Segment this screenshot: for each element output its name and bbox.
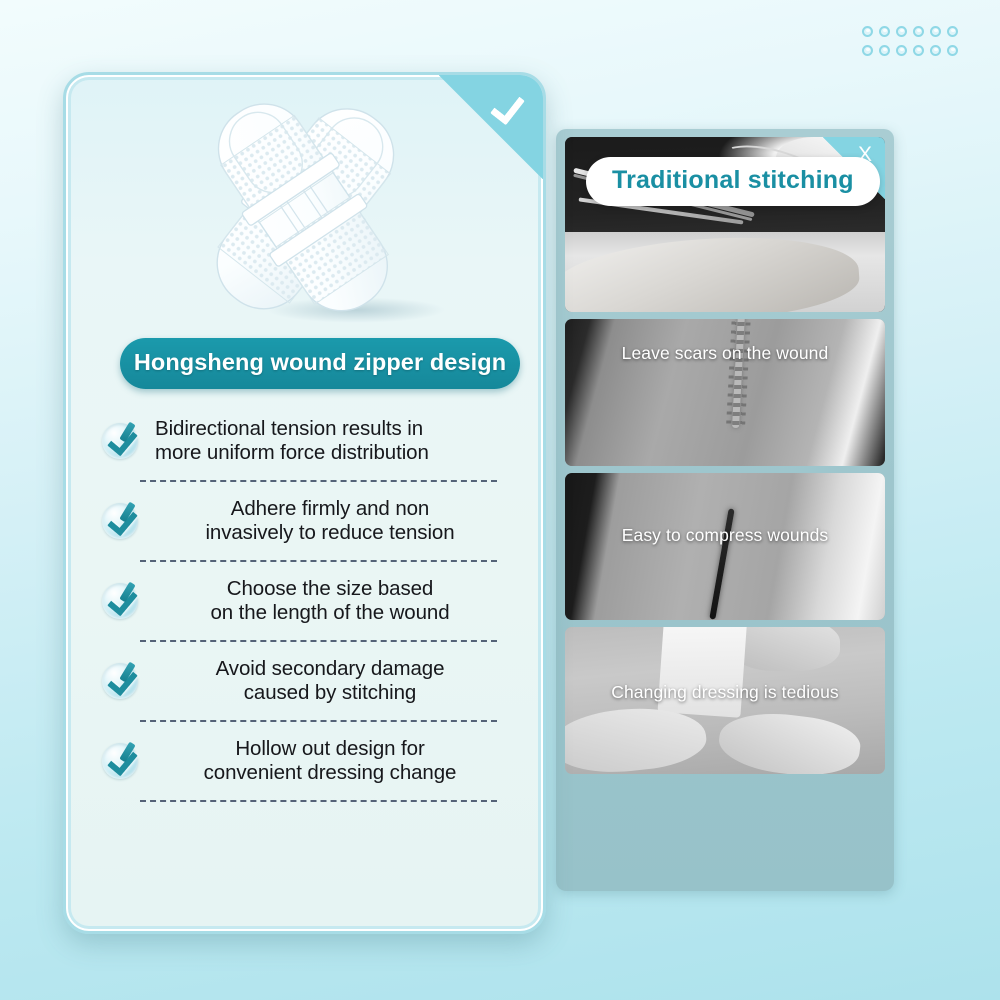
feature-text-line: more uniform force distribution xyxy=(155,441,429,464)
feature-item: Adhere firmly and non invasively to redu… xyxy=(102,491,515,551)
product-feature-card: Hongsheng wound zipper design Bidirectio… xyxy=(63,72,546,934)
decorative-dot-grid xyxy=(862,26,964,64)
check-circle-icon xyxy=(102,743,138,779)
circle-outline-icon xyxy=(930,26,941,37)
stitched-scar-shape xyxy=(732,319,745,428)
feature-text: Bidirectional tension results in more un… xyxy=(151,417,515,465)
circle-outline-icon xyxy=(947,26,958,37)
photo-background xyxy=(565,319,885,466)
feature-item: Hollow out design for convenient dressin… xyxy=(102,731,515,791)
check-corner-badge xyxy=(439,75,543,179)
sutured-scar-photo: Leave scars on the wound xyxy=(565,319,885,466)
feature-item: Avoid secondary damage caused by stitchi… xyxy=(102,651,515,711)
gauze-shape xyxy=(658,627,748,718)
circle-outline-icon xyxy=(862,45,873,56)
hand-shape xyxy=(731,627,840,671)
divider xyxy=(140,480,497,482)
check-circle-icon xyxy=(102,503,138,539)
traditional-stitching-panel: X Traditional stitching Leave scars on t… xyxy=(556,129,894,891)
feature-text-line: on the length of the wound xyxy=(210,601,449,624)
circle-outline-icon xyxy=(947,45,958,56)
feature-text-line: Avoid secondary damage xyxy=(216,657,445,680)
circle-outline-icon xyxy=(896,45,907,56)
feature-text-line: Adhere firmly and non xyxy=(231,497,429,520)
circle-outline-icon xyxy=(913,26,924,37)
feature-text: Choose the size based on the length of t… xyxy=(151,577,515,625)
feature-text-line: Bidirectional tension results in xyxy=(155,417,423,440)
changing-dressing-photo: Changing dressing is tedious xyxy=(565,627,885,774)
feature-text: Adhere firmly and non invasively to redu… xyxy=(151,497,515,545)
check-icon xyxy=(490,89,525,126)
divider xyxy=(140,800,497,802)
feature-text: Avoid secondary damage caused by stitchi… xyxy=(151,657,515,705)
feature-text-line: convenient dressing change xyxy=(204,761,457,784)
check-circle-icon xyxy=(102,663,138,699)
traditional-stitching-heading: Traditional stitching xyxy=(586,157,880,206)
circle-outline-icon xyxy=(896,26,907,37)
photo-caption: Changing dressing is tedious xyxy=(565,682,885,703)
check-circle-icon xyxy=(102,583,138,619)
page-title: Hongsheng wound zipper design xyxy=(120,338,520,389)
feature-list: Bidirectional tension results in more un… xyxy=(66,411,543,811)
linear-wound-photo: Easy to compress wounds xyxy=(565,473,885,620)
divider xyxy=(140,720,497,722)
feature-text-line: Choose the size based xyxy=(227,577,433,600)
feature-text-line: caused by stitching xyxy=(244,681,416,704)
divider xyxy=(140,640,497,642)
check-circle-icon xyxy=(102,423,138,459)
circle-outline-icon xyxy=(879,45,890,56)
feature-text: Hollow out design for convenient dressin… xyxy=(151,737,515,785)
circle-outline-icon xyxy=(913,45,924,56)
photo-caption: Leave scars on the wound xyxy=(565,343,885,364)
circle-outline-icon xyxy=(879,26,890,37)
feature-item: Bidirectional tension results in more un… xyxy=(102,411,515,471)
feature-item: Choose the size based on the length of t… xyxy=(102,571,515,631)
feature-text-line: invasively to reduce tension xyxy=(205,521,454,544)
circle-outline-icon xyxy=(862,26,873,37)
feature-text-line: Hollow out design for xyxy=(235,737,424,760)
photo-caption: Easy to compress wounds xyxy=(565,525,885,546)
circle-outline-icon xyxy=(930,45,941,56)
divider xyxy=(140,560,497,562)
